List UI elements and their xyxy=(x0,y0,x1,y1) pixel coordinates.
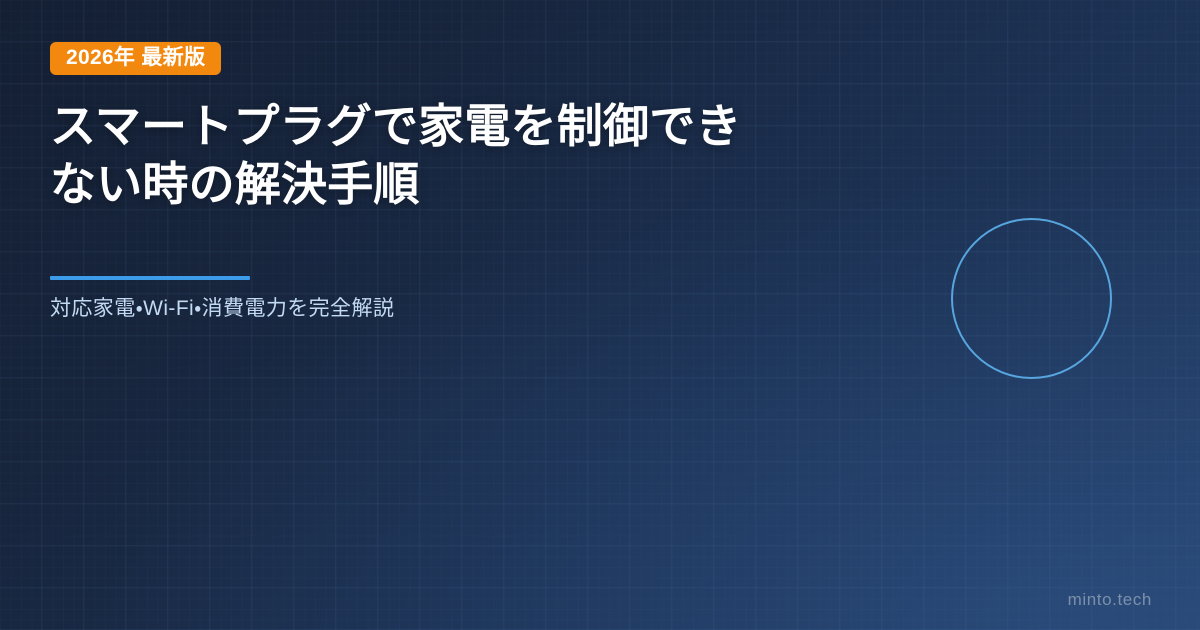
card-content: 2026年 最新版 スマートプラグで家電を制御でき ない時の解決手順 対応家電・… xyxy=(50,0,870,323)
decorative-circle-icon xyxy=(951,218,1112,379)
page-subtitle: 対応家電・Wi-Fi・消費電力を完全解説 xyxy=(50,294,870,323)
site-watermark: minto.tech xyxy=(1068,590,1152,610)
og-image-card: 2026年 最新版 スマートプラグで家電を制御でき ない時の解決手順 対応家電・… xyxy=(0,0,1200,630)
page-title: スマートプラグで家電を制御でき ない時の解決手順 xyxy=(50,97,870,214)
page-title-line-2: ない時の解決手順 xyxy=(50,155,870,213)
title-divider xyxy=(50,276,250,280)
page-title-line-1: スマートプラグで家電を制御でき xyxy=(50,97,870,155)
year-edition-badge: 2026年 最新版 xyxy=(50,42,221,75)
